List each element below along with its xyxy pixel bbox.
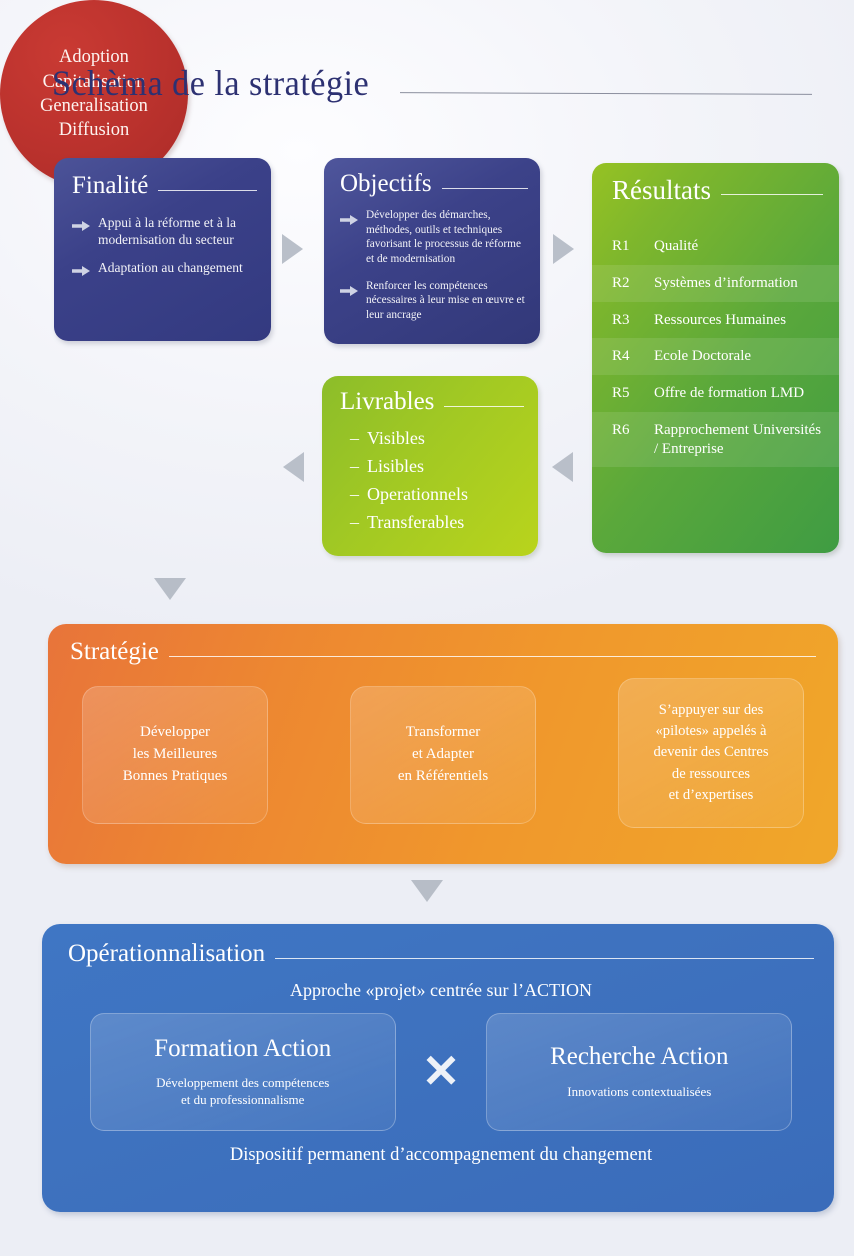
table-row: R6 Rapprochement Universités / Entrepris… — [592, 412, 839, 468]
livrables-list: – Visibles – Lisibles – Operationnels – … — [340, 428, 524, 533]
result-label: Ecole Doctorale — [654, 347, 827, 366]
resultats-list: R1 Qualité R2 Systèmes d’information R3 … — [592, 228, 839, 467]
table-row: R5 Offre de formation LMD — [592, 375, 839, 412]
arrow-finalite-to-objectifs-icon — [282, 234, 303, 264]
finalite-bullet-list: Appui à la réforme et à la modernisation… — [72, 214, 257, 281]
card-operationnalisation-header: Opérationnalisation — [68, 940, 814, 968]
strategie-card-label: Développerles MeilleuresBonnes Pratiques — [123, 722, 228, 787]
strategie-card[interactable]: Développerles MeilleuresBonnes Pratiques — [82, 686, 268, 824]
list-item: – Transferables — [350, 512, 524, 533]
result-code: R5 — [612, 384, 640, 403]
strategie-card-label: Transformeret Adapteren Référentiels — [398, 722, 488, 787]
card-livrables-title: Livrables — [340, 388, 434, 416]
result-code: R3 — [612, 311, 640, 330]
strategie-card-label: S’appuyer sur des«pilotes» appelés àdeve… — [653, 700, 768, 806]
card-finalite[interactable]: Finalité Appui à la réforme et à la mode… — [54, 158, 271, 341]
card-resultats-title: Résultats — [612, 175, 711, 206]
page-title: Schèma de la stratégie — [52, 52, 812, 104]
header-rule — [721, 194, 823, 195]
strategie-card[interactable]: S’appuyer sur des«pilotes» appelés àdeve… — [618, 678, 804, 828]
list-item-label: Operationnels — [367, 484, 468, 505]
header-rule — [158, 190, 257, 191]
result-label: Qualité — [654, 237, 827, 256]
arrow-livrables-to-cercle-icon — [283, 452, 304, 482]
list-item: Renforcer les compétences nécessaires à … — [340, 279, 528, 323]
card-operationnalisation[interactable]: Opérationnalisation Approche «projet» ce… — [42, 924, 834, 1212]
dash-bullet-icon: – — [350, 512, 359, 533]
result-label: Systèmes d’information — [654, 274, 827, 293]
card-strategie-header: Stratégie — [70, 638, 816, 666]
header-rule — [442, 188, 528, 189]
list-item-label: Lisibles — [367, 456, 424, 477]
strategie-card-list: Développerles MeilleuresBonnes Pratiques… — [70, 686, 816, 828]
card-objectifs[interactable]: Objectifs Développer des démarches, méth… — [324, 158, 540, 344]
table-row: R1 Qualité — [592, 228, 839, 265]
arrow-cercle-to-strategie-icon — [154, 578, 186, 600]
arrow-objectifs-to-resultats-icon — [553, 234, 574, 264]
card-livrables[interactable]: Livrables – Visibles – Lisibles – Operat… — [322, 376, 538, 556]
card-finalite-title: Finalité — [72, 172, 148, 200]
multiply-icon: ✕ — [422, 1049, 461, 1095]
card-strategie[interactable]: Stratégie Développerles MeilleuresBonnes… — [48, 624, 838, 864]
list-item: Adaptation au changement — [72, 259, 257, 281]
arrow-strategie-to-operationnalisation-icon — [411, 880, 443, 902]
strategie-card[interactable]: Transformeret Adapteren Référentiels — [350, 686, 536, 824]
arrow-resultats-to-livrables-icon — [552, 452, 573, 482]
arrow-right-icon — [340, 212, 358, 230]
list-item: – Operationnels — [350, 484, 524, 505]
table-row: R3 Ressources Humaines — [592, 302, 839, 339]
page-title-text: Schèma de la stratégie — [52, 62, 369, 104]
list-item: Appui à la réforme et à la modernisation… — [72, 214, 257, 248]
result-label: Offre de formation LMD — [654, 384, 827, 403]
title-rule — [400, 92, 812, 95]
dash-bullet-icon: – — [350, 484, 359, 505]
card-strategie-title: Stratégie — [70, 638, 159, 666]
list-item-label: Appui à la réforme et à la modernisation… — [98, 214, 257, 248]
result-label: Ressources Humaines — [654, 311, 827, 330]
card-operationnalisation-title: Opérationnalisation — [68, 940, 265, 968]
card-livrables-header: Livrables — [340, 388, 524, 416]
card-recherche-action[interactable]: Recherche Action Innovations contextuali… — [486, 1013, 792, 1131]
operationnalisation-footer: Dispositif permanent d’accompagnement du… — [68, 1145, 814, 1166]
result-code: R6 — [612, 421, 640, 440]
list-item: – Visibles — [350, 428, 524, 449]
card-finalite-header: Finalité — [72, 172, 257, 200]
card-objectifs-header: Objectifs — [340, 170, 528, 198]
card-formation-action-subtitle: Développement des compétenceset du profe… — [156, 1075, 329, 1109]
result-code: R2 — [612, 274, 640, 293]
card-recherche-action-title: Recherche Action — [550, 1043, 728, 1072]
header-rule — [444, 406, 524, 407]
result-code: R1 — [612, 237, 640, 256]
card-formation-action[interactable]: Formation Action Développement des compé… — [90, 1013, 396, 1131]
dash-bullet-icon: – — [350, 428, 359, 449]
list-item-label: Développer des démarches, méthodes, outi… — [366, 208, 528, 267]
card-resultats[interactable]: Résultats R1 Qualité R2 Systèmes d’infor… — [592, 163, 839, 553]
list-item: – Lisibles — [350, 456, 524, 477]
objectifs-bullet-list: Développer des démarches, méthodes, outi… — [340, 208, 528, 323]
result-code: R4 — [612, 347, 640, 366]
circle-line: Diffusion — [59, 118, 130, 142]
diagram-canvas: Schèma de la stratégie Finalité Appui à … — [0, 0, 854, 1256]
header-rule — [169, 656, 816, 657]
table-row: R4 Ecole Doctorale — [592, 338, 839, 375]
dash-bullet-icon: – — [350, 456, 359, 477]
arrow-right-icon — [72, 218, 90, 236]
header-rule — [275, 958, 814, 959]
table-row: R2 Systèmes d’information — [592, 265, 839, 302]
result-label: Rapprochement Universités / Entreprise — [654, 421, 827, 459]
list-item-label: Adaptation au changement — [98, 259, 243, 276]
operationnalisation-card-list: Formation Action Développement des compé… — [68, 1013, 814, 1131]
card-objectifs-title: Objectifs — [340, 170, 432, 198]
arrow-right-icon — [340, 283, 358, 301]
list-item-label: Transferables — [367, 512, 464, 533]
card-resultats-header: Résultats — [592, 175, 839, 206]
arrow-right-icon — [72, 263, 90, 281]
operationnalisation-subtitle: Approche «projet» centrée sur l’ACTION — [68, 980, 814, 1001]
list-item-label: Renforcer les compétences nécessaires à … — [366, 279, 528, 323]
card-recherche-action-subtitle: Innovations contextualisées — [567, 1084, 711, 1101]
list-item-label: Visibles — [367, 428, 425, 449]
card-formation-action-title: Formation Action — [154, 1035, 331, 1064]
list-item: Développer des démarches, méthodes, outi… — [340, 208, 528, 267]
